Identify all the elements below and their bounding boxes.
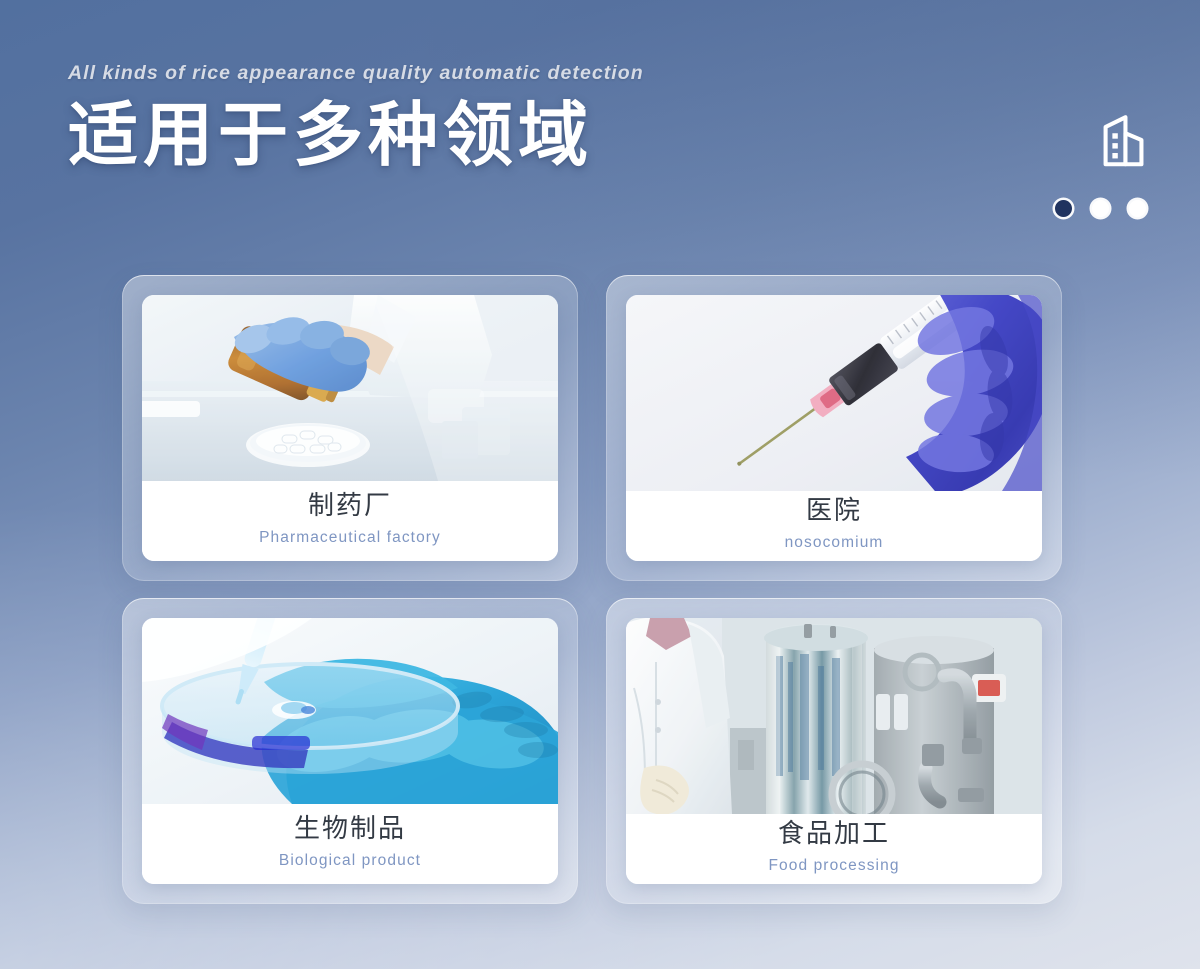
eyebrow-text: All kinds of rice appearance quality aut…	[68, 62, 644, 85]
building-icon	[1093, 110, 1155, 172]
card-inner: 制药厂 Pharmaceutical factory	[142, 295, 558, 561]
pharmaceutical-factory-image	[142, 295, 558, 481]
card-title-cn: 医院	[806, 494, 862, 527]
page-title: 适用于多种领域	[68, 98, 644, 174]
card-nosocomium[interactable]: 医院 nosocomium	[606, 275, 1062, 581]
pagination-dot-3[interactable]	[1129, 200, 1146, 217]
card-biological-product[interactable]: 生物制品 Biological product	[122, 598, 578, 904]
card-caption: 生物制品 Biological product	[142, 804, 558, 884]
pagination-dots[interactable]	[1055, 200, 1146, 217]
card-inner: 生物制品 Biological product	[142, 618, 558, 884]
header: All kinds of rice appearance quality aut…	[68, 62, 644, 174]
card-title-cn: 食品加工	[778, 817, 890, 850]
card-caption: 食品加工 Food processing	[626, 814, 1042, 884]
card-title-cn: 制药厂	[308, 489, 392, 522]
card-caption: 制药厂 Pharmaceutical factory	[142, 481, 558, 561]
card-title-en: Pharmaceutical factory	[259, 529, 441, 547]
card-grid: 制药厂 Pharmaceutical factory	[122, 275, 1062, 904]
slide-root: All kinds of rice appearance quality aut…	[0, 0, 1200, 969]
card-title-en: Biological product	[279, 852, 421, 870]
card-pharmaceutical-factory[interactable]: 制药厂 Pharmaceutical factory	[122, 275, 578, 581]
card-caption: 医院 nosocomium	[626, 491, 1042, 561]
biological-product-image	[142, 618, 558, 804]
card-inner: 医院 nosocomium	[626, 295, 1042, 561]
card-food-processing[interactable]: 食品加工 Food processing	[606, 598, 1062, 904]
card-title-en: Food processing	[768, 857, 899, 875]
pagination-dot-2[interactable]	[1092, 200, 1109, 217]
card-title-en: nosocomium	[785, 534, 884, 552]
pagination-dot-1[interactable]	[1055, 200, 1072, 217]
card-inner: 食品加工 Food processing	[626, 618, 1042, 884]
card-title-cn: 生物制品	[294, 812, 406, 845]
nosocomium-image	[626, 295, 1042, 491]
food-processing-image	[626, 618, 1042, 814]
